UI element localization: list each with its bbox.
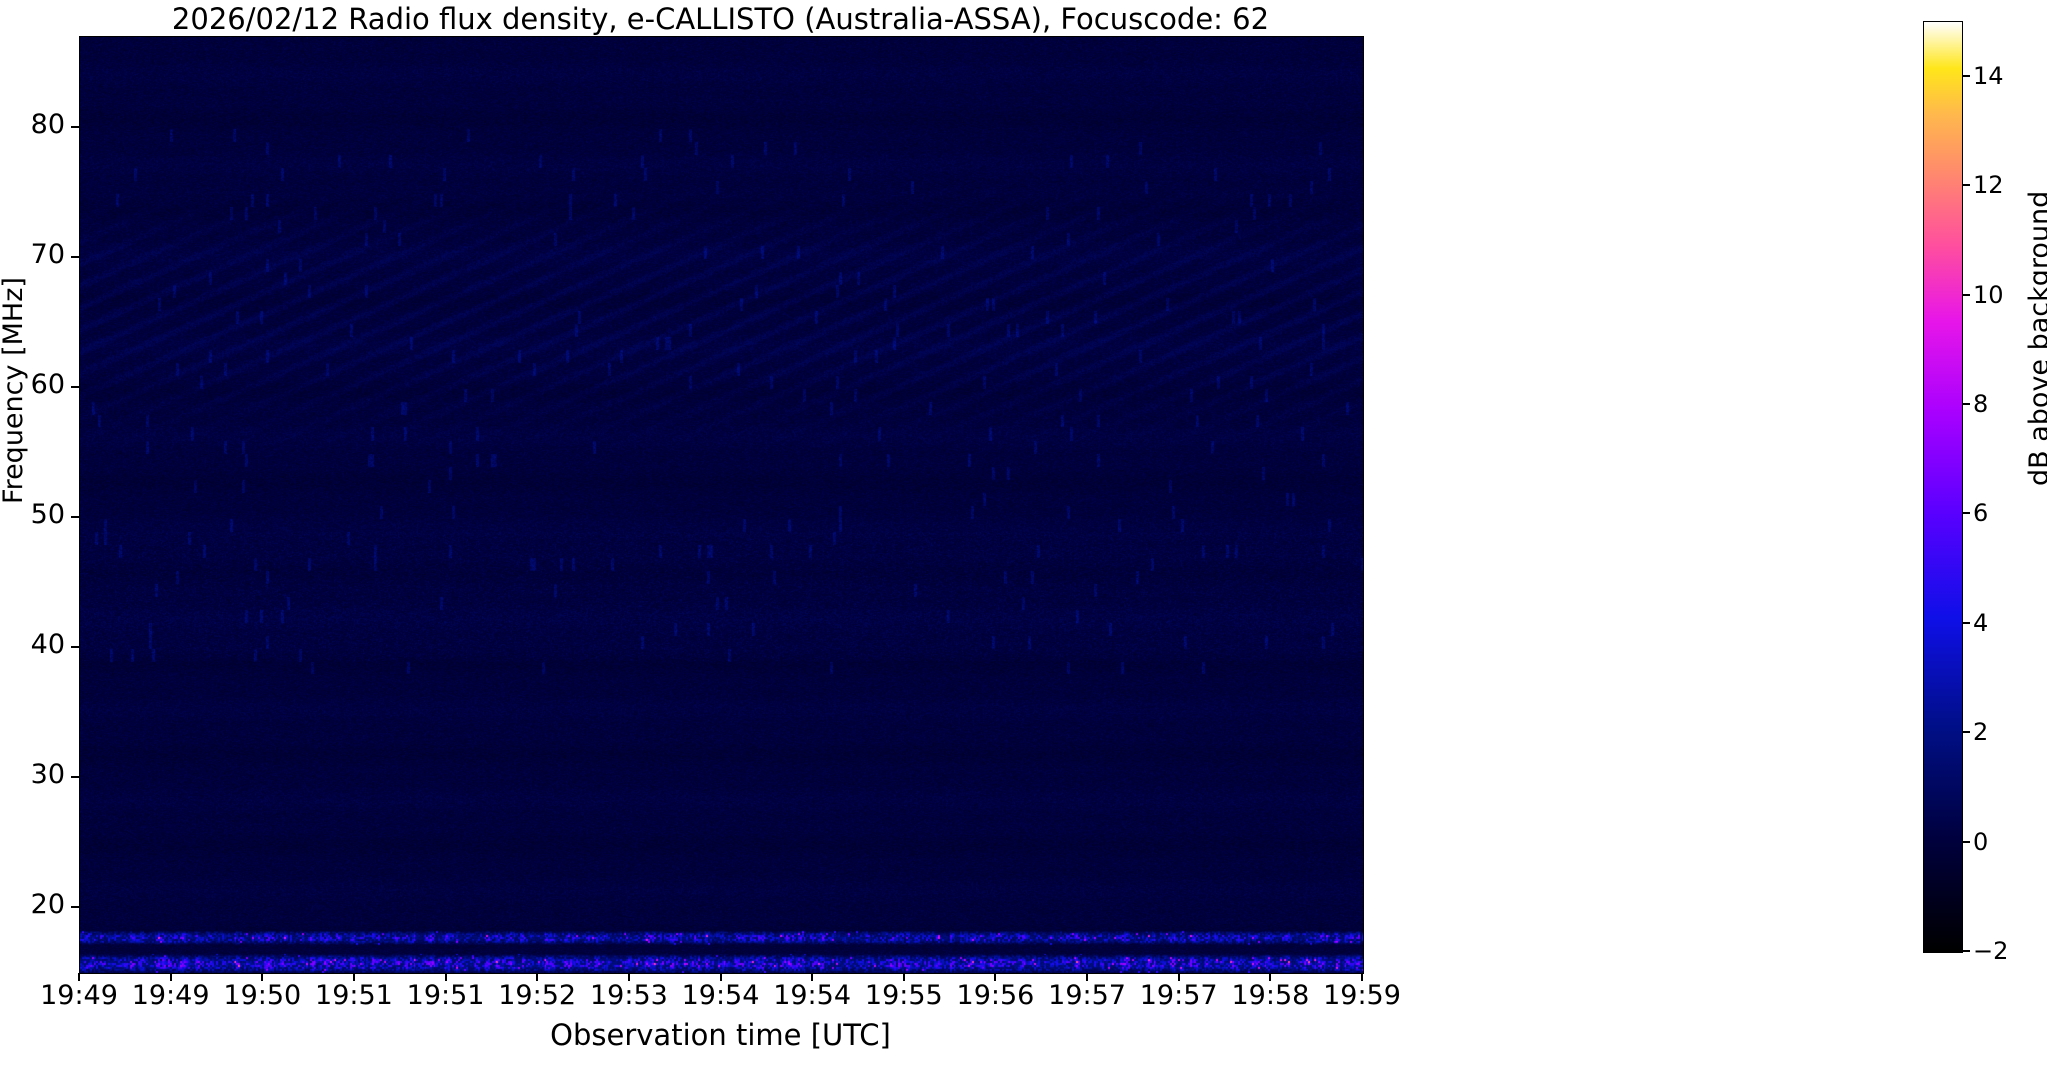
y-tick-label: 30 bbox=[31, 759, 65, 790]
y-tick-label: 60 bbox=[31, 369, 65, 400]
colorbar[interactable] bbox=[1923, 21, 1963, 953]
x-tick-label: 19:55 bbox=[865, 980, 943, 1011]
x-tick-mark bbox=[536, 973, 538, 981]
x-tick-label: 19:49 bbox=[40, 980, 118, 1011]
page-title: 2026/02/12 Radio flux density, e-CALLIST… bbox=[79, 2, 1362, 36]
y-tick-mark bbox=[71, 646, 79, 648]
x-tick-mark bbox=[170, 973, 172, 981]
y-tick-label: 50 bbox=[31, 499, 65, 530]
x-tick-label: 19:54 bbox=[682, 980, 760, 1011]
spectrogram-image bbox=[80, 37, 1363, 973]
colorbar-tick-label: 4 bbox=[1973, 609, 1988, 637]
y-tick-mark bbox=[71, 906, 79, 908]
x-axis-label: Observation time [UTC] bbox=[79, 1018, 1362, 1052]
x-tick-label: 19:53 bbox=[590, 980, 668, 1011]
colorbar-tick-mark bbox=[1962, 75, 1970, 77]
x-tick-mark bbox=[811, 973, 813, 981]
colorbar-tick-mark bbox=[1962, 184, 1970, 186]
x-tick-mark bbox=[1269, 973, 1271, 981]
y-tick-mark bbox=[71, 516, 79, 518]
x-tick-mark bbox=[903, 973, 905, 981]
y-tick-mark bbox=[71, 776, 79, 778]
figure-canvas: 2026/02/12 Radio flux density, e-CALLIST… bbox=[0, 0, 2047, 1067]
colorbar-tick-label: 10 bbox=[1973, 281, 2004, 309]
colorbar-tick-mark bbox=[1962, 841, 1970, 843]
y-tick-mark bbox=[71, 386, 79, 388]
y-tick-label: 80 bbox=[31, 109, 65, 140]
x-tick-label: 19:57 bbox=[1140, 980, 1218, 1011]
x-tick-label: 19:50 bbox=[223, 980, 301, 1011]
colorbar-tick-label: 0 bbox=[1973, 828, 1988, 856]
y-axis-label: Frequency [MHz] bbox=[0, 277, 29, 504]
x-tick-label: 19:58 bbox=[1231, 980, 1309, 1011]
colorbar-gradient bbox=[1924, 22, 1962, 952]
x-tick-label: 19:59 bbox=[1323, 980, 1401, 1011]
x-tick-label: 19:57 bbox=[1048, 980, 1126, 1011]
x-tick-label: 19:51 bbox=[315, 980, 393, 1011]
x-tick-mark bbox=[994, 973, 996, 981]
x-tick-label: 19:56 bbox=[957, 980, 1035, 1011]
y-tick-label: 40 bbox=[31, 629, 65, 660]
colorbar-tick-mark bbox=[1962, 294, 1970, 296]
colorbar-label: dB above background bbox=[2024, 191, 2047, 486]
colorbar-tick-mark bbox=[1962, 622, 1970, 624]
colorbar-tick-mark bbox=[1962, 731, 1970, 733]
x-tick-mark bbox=[261, 973, 263, 981]
colorbar-tick-label: −2 bbox=[1973, 937, 2008, 965]
colorbar-tick-label: 14 bbox=[1973, 62, 2004, 90]
x-tick-label: 19:51 bbox=[407, 980, 485, 1011]
x-tick-mark bbox=[353, 973, 355, 981]
colorbar-tick-label: 12 bbox=[1973, 171, 2004, 199]
x-tick-mark bbox=[1178, 973, 1180, 981]
colorbar-tick-label: 8 bbox=[1973, 390, 1988, 418]
x-tick-mark bbox=[78, 973, 80, 981]
x-tick-mark bbox=[720, 973, 722, 981]
y-tick-mark bbox=[71, 126, 79, 128]
y-tick-mark bbox=[71, 256, 79, 258]
y-tick-label: 20 bbox=[31, 889, 65, 920]
spectrogram-plot-area[interactable] bbox=[79, 36, 1364, 974]
colorbar-tick-mark bbox=[1962, 403, 1970, 405]
colorbar-tick-mark bbox=[1962, 950, 1970, 952]
colorbar-tick-label: 6 bbox=[1973, 499, 1988, 527]
x-tick-label: 19:54 bbox=[773, 980, 851, 1011]
colorbar-tick-mark bbox=[1962, 512, 1970, 514]
x-tick-label: 19:52 bbox=[498, 980, 576, 1011]
x-tick-mark bbox=[445, 973, 447, 981]
x-tick-mark bbox=[628, 973, 630, 981]
x-tick-mark bbox=[1086, 973, 1088, 981]
x-tick-mark bbox=[1361, 973, 1363, 981]
x-tick-label: 19:49 bbox=[132, 980, 210, 1011]
colorbar-tick-label: 2 bbox=[1973, 718, 1988, 746]
y-tick-label: 70 bbox=[31, 239, 65, 270]
